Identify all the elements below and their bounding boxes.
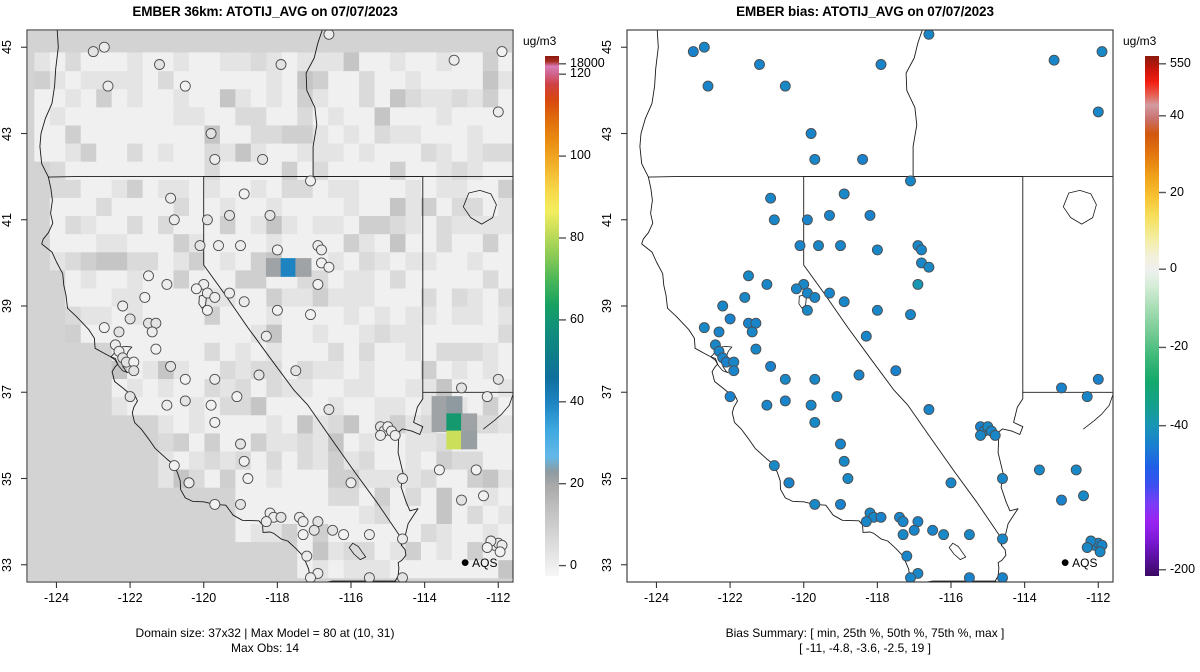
station-marker[interactable]	[766, 361, 776, 371]
station-marker[interactable]	[140, 292, 150, 302]
station-marker[interactable]	[810, 374, 820, 384]
station-marker[interactable]	[872, 245, 882, 255]
station-marker[interactable]	[902, 551, 912, 561]
station-marker[interactable]	[906, 573, 916, 583]
station-marker[interactable]	[258, 154, 268, 164]
station-marker[interactable]	[725, 314, 735, 324]
raster-cell	[189, 71, 205, 90]
station-marker[interactable]	[317, 245, 327, 255]
station-marker[interactable]	[434, 465, 444, 475]
station-marker[interactable]	[210, 154, 220, 164]
raster-cell	[436, 342, 452, 361]
station-marker[interactable]	[784, 478, 794, 488]
raster-cell	[220, 71, 236, 90]
raster-cell	[282, 107, 298, 126]
raster-cell	[467, 360, 483, 379]
station-marker[interactable]	[998, 573, 1008, 583]
station-marker[interactable]	[276, 512, 286, 522]
station-marker[interactable]	[195, 241, 205, 251]
raster-cell	[390, 89, 406, 108]
station-marker[interactable]	[180, 374, 190, 384]
station-marker[interactable]	[876, 512, 886, 522]
raster-cell	[127, 125, 143, 144]
station-marker[interactable]	[703, 81, 713, 91]
station-marker[interactable]	[457, 495, 467, 505]
raster-cell	[514, 125, 530, 144]
colorbar-tick-label: 0	[570, 558, 577, 572]
raster-cell	[266, 71, 282, 90]
station-marker[interactable]	[872, 305, 882, 315]
station-marker[interactable]	[891, 366, 901, 376]
station-marker[interactable]	[810, 154, 820, 164]
station-marker[interactable]	[1034, 465, 1044, 475]
raster-cell	[483, 71, 499, 90]
station-marker[interactable]	[166, 193, 176, 203]
station-marker[interactable]	[913, 279, 923, 289]
raster-cell	[446, 431, 462, 450]
station-marker[interactable]	[261, 331, 271, 341]
raster-cell	[282, 179, 298, 198]
station-marker[interactable]	[129, 366, 139, 376]
raster-cell	[297, 197, 313, 216]
raster-cell	[266, 487, 282, 506]
station-marker[interactable]	[225, 288, 235, 298]
raster-cell	[282, 306, 298, 325]
raster-cell	[359, 505, 375, 524]
y-tick-label: 33	[0, 553, 16, 577]
raster-cell	[112, 143, 128, 162]
raster-cell	[251, 288, 267, 307]
raster-cell	[514, 215, 530, 234]
raster-cell	[452, 360, 468, 379]
raster-cell	[405, 378, 421, 397]
raster-cell	[96, 215, 112, 234]
raster-cell	[220, 360, 236, 379]
raster-cell	[498, 197, 514, 216]
station-marker[interactable]	[125, 392, 135, 402]
station-marker[interactable]	[924, 29, 934, 39]
station-marker[interactable]	[858, 154, 868, 164]
raster-cell	[127, 52, 143, 71]
station-marker[interactable]	[814, 241, 824, 251]
station-marker[interactable]	[306, 573, 316, 583]
station-marker[interactable]	[151, 344, 161, 354]
x-tick-label: -112	[1074, 591, 1122, 605]
station-marker[interactable]	[699, 323, 709, 333]
raster-cell	[436, 215, 452, 234]
station-marker[interactable]	[795, 241, 805, 251]
station-marker[interactable]	[206, 400, 216, 410]
x-tick-label: -116	[927, 591, 975, 605]
station-marker[interactable]	[118, 301, 128, 311]
station-marker[interactable]	[747, 327, 757, 337]
station-marker[interactable]	[114, 327, 124, 337]
raster-cell	[359, 451, 375, 470]
station-marker[interactable]	[699, 42, 709, 52]
station-marker[interactable]	[766, 193, 776, 203]
station-marker[interactable]	[810, 417, 820, 427]
station-marker[interactable]	[144, 271, 154, 281]
raster-cell	[328, 360, 344, 379]
station-marker[interactable]	[780, 81, 790, 91]
raster-cell	[390, 378, 406, 397]
station-marker[interactable]	[725, 392, 735, 402]
raster-cell	[65, 125, 81, 144]
raster-cell	[405, 125, 421, 144]
raster-cell	[220, 451, 236, 470]
raster-cell	[282, 487, 298, 506]
raster-cell	[461, 413, 477, 432]
station-marker[interactable]	[493, 107, 503, 117]
raster-cell	[421, 306, 437, 325]
raster-cell	[297, 487, 313, 506]
raster-cell	[65, 89, 81, 108]
station-marker[interactable]	[836, 499, 846, 509]
station-marker[interactable]	[744, 271, 754, 281]
raster-cell	[81, 306, 97, 325]
raster-cell	[81, 215, 97, 234]
station-marker[interactable]	[769, 215, 779, 225]
raster-cell	[127, 143, 143, 162]
station-marker[interactable]	[398, 534, 408, 544]
station-marker[interactable]	[324, 405, 334, 415]
station-marker[interactable]	[497, 47, 507, 57]
station-marker[interactable]	[276, 60, 286, 70]
station-marker[interactable]	[1057, 383, 1067, 393]
station-marker[interactable]	[479, 491, 489, 501]
station-marker[interactable]	[964, 573, 974, 583]
station-marker[interactable]	[1057, 495, 1067, 505]
station-marker[interactable]	[493, 374, 503, 384]
raster-cell	[220, 179, 236, 198]
raster-cell	[235, 89, 251, 108]
raster-cell	[112, 252, 128, 271]
raster-cell	[452, 541, 468, 560]
station-marker[interactable]	[236, 439, 246, 449]
raster-cell	[251, 179, 267, 198]
raster-cell	[112, 52, 128, 71]
raster-cell	[158, 143, 174, 162]
raster-cell	[313, 487, 329, 506]
station-marker[interactable]	[825, 210, 835, 220]
raster-cell	[359, 415, 375, 434]
station-marker[interactable]	[964, 530, 974, 540]
station-marker[interactable]	[718, 301, 728, 311]
raster-cell	[498, 270, 514, 289]
raster-cell	[282, 197, 298, 216]
raster-cell	[204, 252, 220, 271]
station-marker[interactable]	[906, 176, 916, 186]
station-marker[interactable]	[309, 525, 319, 535]
raster-cell	[313, 215, 329, 234]
station-marker[interactable]	[162, 400, 172, 410]
raster-cell	[436, 107, 452, 126]
station-marker[interactable]	[762, 279, 772, 289]
raster-cell	[174, 252, 190, 271]
station-marker[interactable]	[147, 327, 157, 337]
station-marker[interactable]	[162, 279, 172, 289]
station-marker[interactable]	[272, 305, 282, 315]
station-marker[interactable]	[313, 279, 323, 289]
station-marker[interactable]	[1082, 543, 1092, 553]
raster-cell	[405, 541, 421, 560]
station-marker[interactable]	[184, 478, 194, 488]
raster-cell	[436, 89, 452, 108]
station-marker[interactable]	[839, 456, 849, 466]
raster-cell	[158, 415, 174, 434]
station-marker[interactable]	[939, 530, 949, 540]
station-marker[interactable]	[254, 370, 264, 380]
raster-cell	[251, 270, 267, 289]
station-marker[interactable]	[1079, 491, 1089, 501]
station-marker[interactable]	[946, 478, 956, 488]
station-marker[interactable]	[99, 323, 109, 333]
station-marker[interactable]	[976, 430, 986, 440]
raster-cell	[375, 397, 391, 416]
station-marker[interactable]	[339, 530, 349, 540]
raster-cell	[189, 143, 205, 162]
station-marker[interactable]	[898, 517, 908, 527]
station-marker[interactable]	[861, 331, 871, 341]
station-marker[interactable]	[990, 430, 1000, 440]
station-marker[interactable]	[261, 517, 271, 527]
station-marker[interactable]	[306, 176, 316, 186]
station-marker[interactable]	[155, 60, 165, 70]
map-line-wa-or-border	[59, 0, 313, 23]
station-marker[interactable]	[225, 210, 235, 220]
station-marker[interactable]	[103, 81, 113, 91]
station-marker[interactable]	[306, 310, 316, 320]
station-marker[interactable]	[398, 573, 408, 583]
raster-cell	[328, 306, 344, 325]
station-marker[interactable]	[839, 189, 849, 199]
station-marker[interactable]	[457, 383, 467, 393]
station-marker[interactable]	[928, 525, 938, 535]
y-tick-label: 41	[598, 208, 616, 232]
raster-cell	[344, 415, 360, 434]
station-marker[interactable]	[906, 310, 916, 320]
station-marker[interactable]	[210, 374, 220, 384]
station-marker[interactable]	[810, 499, 820, 509]
raster-cell	[282, 324, 298, 343]
station-marker[interactable]	[482, 392, 492, 402]
station-marker[interactable]	[328, 525, 338, 535]
station-marker[interactable]	[390, 430, 400, 440]
station-marker[interactable]	[265, 210, 275, 220]
station-marker[interactable]	[202, 215, 212, 225]
station-marker[interactable]	[876, 60, 886, 70]
station-marker[interactable]	[1093, 107, 1103, 117]
station-marker[interactable]	[99, 42, 109, 52]
station-marker[interactable]	[298, 517, 308, 527]
station-marker[interactable]	[471, 465, 481, 475]
raster-cell	[375, 469, 391, 488]
station-marker[interactable]	[166, 361, 176, 371]
station-marker[interactable]	[169, 215, 179, 225]
station-marker[interactable]	[210, 417, 220, 427]
raster-cell	[421, 360, 437, 379]
station-marker[interactable]	[191, 284, 201, 294]
raster-cell	[452, 451, 468, 470]
station-marker[interactable]	[825, 288, 835, 298]
raster-cell	[405, 288, 421, 307]
station-marker[interactable]	[688, 47, 698, 57]
raster-cell	[158, 469, 174, 488]
raster-cell	[81, 197, 97, 216]
station-marker[interactable]	[861, 517, 871, 527]
raster-cell	[328, 71, 344, 90]
station-marker[interactable]	[232, 392, 242, 402]
raster-cell	[174, 288, 190, 307]
station-marker[interactable]	[239, 456, 249, 466]
station-marker[interactable]	[832, 392, 842, 402]
raster-cell	[344, 560, 360, 579]
station-marker[interactable]	[180, 81, 190, 91]
station-marker[interactable]	[909, 525, 919, 535]
station-marker[interactable]	[239, 297, 249, 307]
station-marker[interactable]	[236, 499, 246, 509]
station-marker[interactable]	[780, 396, 790, 406]
station-marker[interactable]	[898, 530, 908, 540]
station-marker[interactable]	[854, 370, 864, 380]
station-marker[interactable]	[924, 405, 934, 415]
raster-cell	[65, 270, 81, 289]
raster-cell	[96, 197, 112, 216]
raster-cell	[498, 179, 514, 198]
station-marker[interactable]	[714, 327, 724, 337]
station-marker[interactable]	[214, 241, 224, 251]
raster-cell	[235, 360, 251, 379]
station-marker[interactable]	[806, 129, 816, 139]
station-marker[interactable]	[302, 551, 312, 561]
raster-cell	[81, 270, 97, 289]
raster-cell	[390, 234, 406, 253]
raster-cell	[359, 288, 375, 307]
station-marker[interactable]	[751, 344, 761, 354]
station-marker[interactable]	[291, 366, 301, 376]
station-marker[interactable]	[364, 573, 374, 583]
station-marker[interactable]	[449, 55, 459, 65]
station-marker[interactable]	[836, 439, 846, 449]
raster-cell	[235, 215, 251, 234]
station-marker[interactable]	[843, 474, 853, 484]
station-marker[interactable]	[865, 210, 875, 220]
station-marker[interactable]	[376, 430, 386, 440]
raster-cell	[189, 324, 205, 343]
station-marker[interactable]	[836, 241, 846, 251]
station-marker[interactable]	[1071, 465, 1081, 475]
station-marker[interactable]	[1082, 392, 1092, 402]
raster-cell	[514, 89, 530, 108]
station-marker[interactable]	[169, 461, 179, 471]
raster-cell	[436, 324, 452, 343]
raster-cell	[204, 197, 220, 216]
raster-cell	[498, 415, 514, 434]
station-marker[interactable]	[1097, 47, 1107, 57]
station-marker[interactable]	[398, 474, 408, 484]
station-marker[interactable]	[180, 396, 190, 406]
station-marker[interactable]	[917, 245, 927, 255]
raster-cell	[204, 433, 220, 452]
station-marker[interactable]	[762, 400, 772, 410]
x-tick-label: -124	[632, 591, 680, 605]
raster-cell	[498, 234, 514, 253]
raster-cell	[405, 397, 421, 416]
raster-cell	[390, 270, 406, 289]
raster-cell	[112, 270, 128, 289]
station-marker[interactable]	[346, 478, 356, 488]
station-marker[interactable]	[924, 262, 934, 272]
station-marker[interactable]	[210, 292, 220, 302]
raster-cell	[467, 179, 483, 198]
raster-cell	[127, 197, 143, 216]
raster-cell	[65, 252, 81, 271]
raster-cell	[467, 89, 483, 108]
raster-cell	[220, 107, 236, 126]
station-marker[interactable]	[236, 241, 246, 251]
station-marker[interactable]	[206, 129, 216, 139]
station-marker[interactable]	[755, 60, 765, 70]
raster-cell	[158, 234, 174, 253]
raster-cell	[143, 397, 159, 416]
station-marker[interactable]	[324, 29, 334, 39]
station-marker[interactable]	[239, 189, 249, 199]
station-marker[interactable]	[998, 534, 1008, 544]
station-marker[interactable]	[791, 284, 801, 294]
station-marker[interactable]	[272, 245, 282, 255]
station-marker[interactable]	[125, 314, 135, 324]
station-marker[interactable]	[202, 305, 212, 315]
station-marker[interactable]	[482, 543, 492, 553]
raster-cell	[452, 107, 468, 126]
station-marker[interactable]	[364, 530, 374, 540]
station-marker[interactable]	[729, 366, 739, 376]
station-marker[interactable]	[998, 474, 1008, 484]
station-marker[interactable]	[243, 474, 253, 484]
raster-cell	[452, 143, 468, 162]
colorbar-tick-label: 120	[570, 66, 591, 80]
raster-cell	[297, 451, 313, 470]
raster-cell	[446, 413, 462, 432]
station-marker[interactable]	[210, 499, 220, 509]
raster-cell	[235, 324, 251, 343]
raster-cell	[467, 523, 483, 542]
station-marker[interactable]	[802, 215, 812, 225]
station-marker[interactable]	[298, 530, 308, 540]
raster-cell	[50, 252, 66, 271]
raster-cell	[359, 143, 375, 162]
station-marker[interactable]	[802, 305, 812, 315]
station-marker[interactable]	[740, 292, 750, 302]
raster-cell	[50, 71, 66, 90]
raster-cell	[328, 143, 344, 162]
y-tick-label: 33	[598, 553, 616, 577]
station-marker[interactable]	[839, 297, 849, 307]
station-marker[interactable]	[806, 400, 816, 410]
raster-cell	[220, 125, 236, 144]
station-marker[interactable]	[1093, 374, 1103, 384]
station-marker[interactable]	[810, 292, 820, 302]
raster-cell	[96, 52, 112, 71]
raster-cell	[446, 396, 462, 415]
raster-cell	[359, 71, 375, 90]
station-marker[interactable]	[1049, 55, 1059, 65]
station-marker[interactable]	[769, 461, 779, 471]
station-marker[interactable]	[780, 374, 790, 384]
raster-cell	[359, 234, 375, 253]
station-marker[interactable]	[88, 47, 98, 57]
station-marker[interactable]	[324, 262, 334, 272]
